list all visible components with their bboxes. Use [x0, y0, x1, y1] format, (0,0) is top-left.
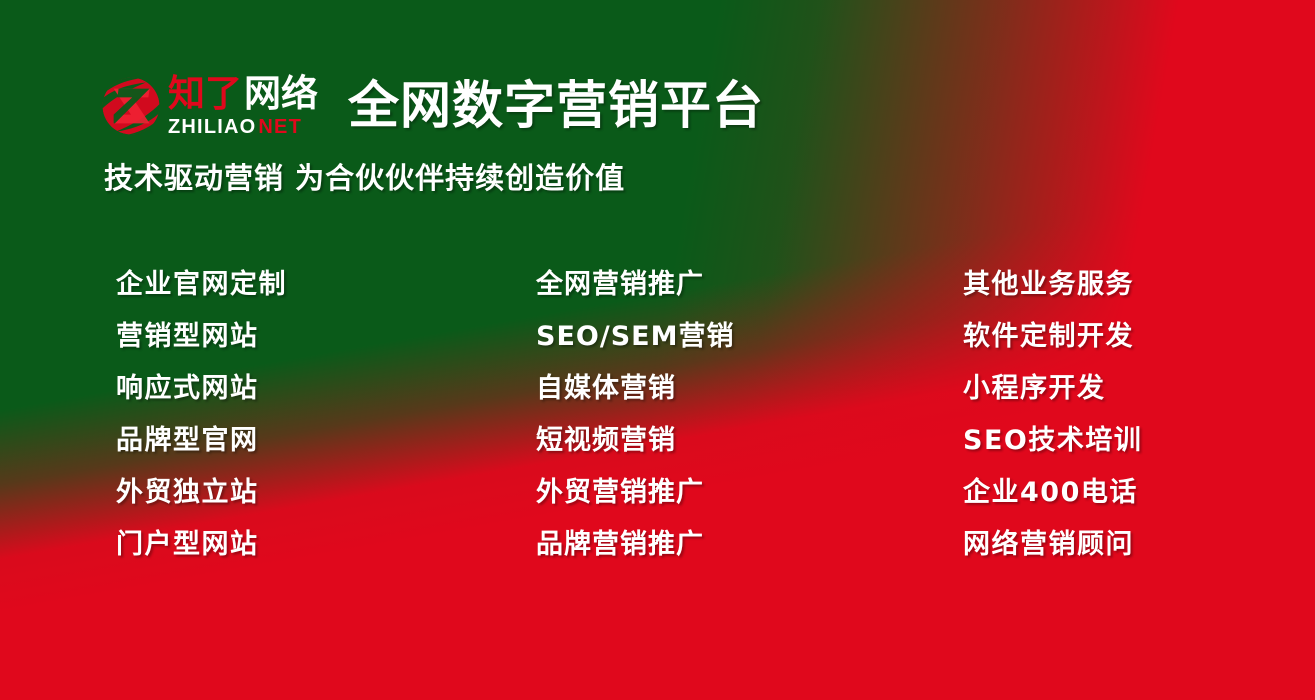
brand-name-cn-red: 知了 [168, 72, 242, 115]
service-item[interactable]: 外贸独立站 [116, 466, 287, 518]
page-title: 全网数字营销平台 [348, 81, 764, 132]
service-item[interactable]: 品牌营销推广 [536, 518, 734, 570]
marketing-poster: 知了网络 ZHILIAONET 全网数字营销平台 技术驱动营销 为合伙伙伴持续创… [0, 0, 1315, 700]
service-column-marketing-services: 全网营销推广 SEO/SEM营销 自媒体营销 短视频营销 外贸营销推广 品牌营销… [536, 258, 734, 570]
brand-name-en: ZHILIAONET [168, 117, 318, 137]
service-item[interactable]: 门户型网站 [116, 518, 287, 570]
brand-name-en-white: ZHILIAO [168, 117, 256, 137]
poster-header: 知了网络 ZHILIAONET 全网数字营销平台 [100, 68, 764, 144]
poster-content: 知了网络 ZHILIAONET 全网数字营销平台 技术驱动营销 为合伙伙伴持续创… [0, 0, 1315, 700]
service-item[interactable]: 外贸营销推广 [536, 466, 734, 518]
service-item[interactable]: 品牌型官网 [116, 414, 287, 466]
service-item[interactable]: 小程序开发 [963, 362, 1142, 414]
service-column-website-services: 企业官网定制 营销型网站 响应式网站 品牌型官网 外贸独立站 门户型网站 [116, 258, 287, 570]
brand-logo[interactable]: 知了网络 ZHILIAONET [100, 70, 318, 142]
service-item[interactable]: 网络营销顾问 [963, 518, 1142, 570]
service-item[interactable]: SEO/SEM营销 [536, 310, 734, 362]
page-subtitle: 技术驱动营销 为合伙伙伴持续创造价值 [104, 160, 625, 196]
brand-logo-wordmark: 知了网络 ZHILIAONET [168, 73, 318, 139]
brand-name-cn-white: 网络 [244, 72, 318, 115]
service-column-other-services: 其他业务服务 软件定制开发 小程序开发 SEO技术培训 企业400电话 网络营销… [963, 258, 1142, 570]
brand-name-en-red: NET [258, 117, 302, 137]
service-item[interactable]: 全网营销推广 [536, 258, 734, 310]
service-item[interactable]: 其他业务服务 [963, 258, 1142, 310]
service-item[interactable]: SEO技术培训 [963, 414, 1142, 466]
service-item[interactable]: 营销型网站 [116, 310, 287, 362]
service-item[interactable]: 短视频营销 [536, 414, 734, 466]
service-item[interactable]: 自媒体营销 [536, 362, 734, 414]
zhiliao-circular-z-mark-icon [100, 75, 162, 137]
service-item[interactable]: 企业官网定制 [116, 258, 287, 310]
brand-name-cn: 知了网络 [168, 75, 318, 112]
service-item[interactable]: 响应式网站 [116, 362, 287, 414]
service-item[interactable]: 软件定制开发 [963, 310, 1142, 362]
service-item[interactable]: 企业400电话 [963, 466, 1142, 518]
